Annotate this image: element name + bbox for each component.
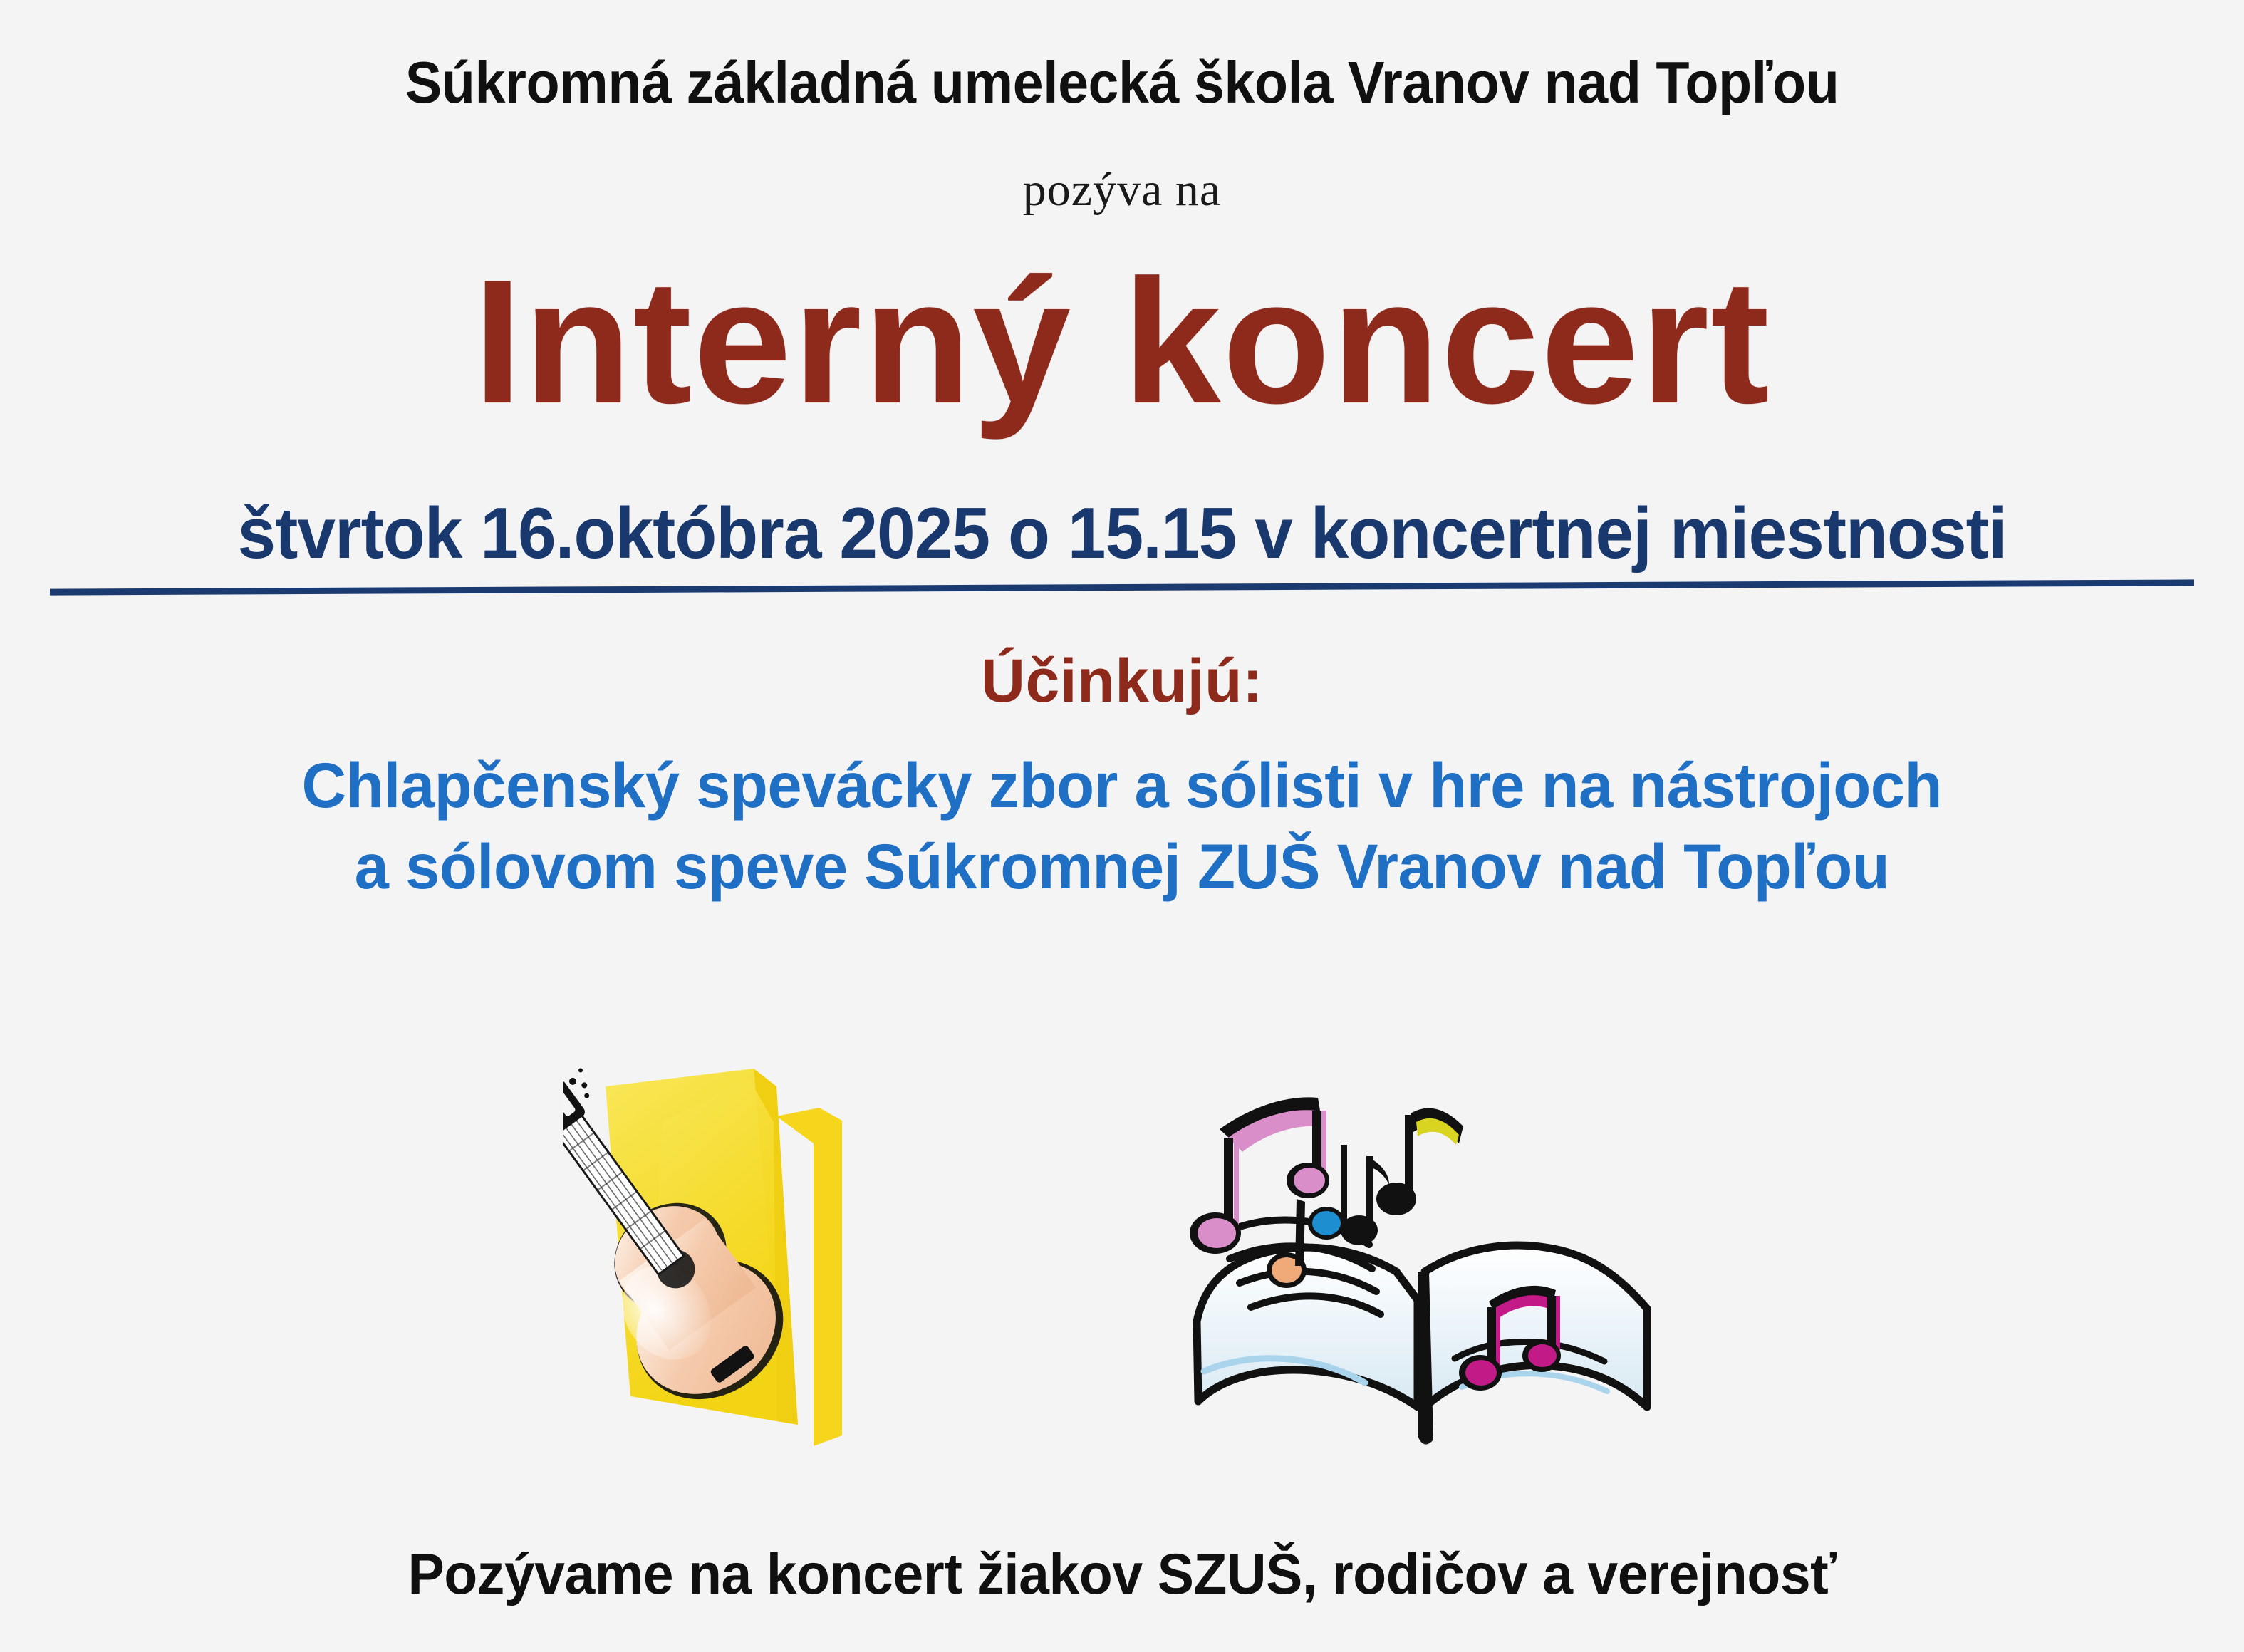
guitar-illustration	[563, 1037, 1019, 1464]
date-underline-rule	[50, 580, 2194, 596]
concert-poster: Súkromná základná umelecká škola Vranov …	[0, 0, 2244, 1652]
date-time-venue-text: štvrtok 16.októbra 2025 o 15.15 v koncer…	[237, 493, 2006, 575]
music-book-illustration	[1183, 1037, 1681, 1464]
invitation-subtitle: pozýva na	[1023, 163, 1221, 217]
guitar-clipart	[563, 1037, 1019, 1464]
performers-heading: Účinkujú:	[981, 646, 1263, 717]
school-name-heading: Súkromná základná umelecká škola Vranov …	[405, 51, 1839, 113]
footer-invitation-text: Pozývame na koncert žiakov SZUŠ, rodičov…	[56, 1542, 2188, 1608]
yellow-flag-note	[1376, 1108, 1463, 1215]
music-book-clipart	[1183, 1037, 1681, 1464]
clipart-row	[0, 1037, 2244, 1478]
page-title: Interný koncert	[473, 251, 1771, 432]
performers-line-2: a sólovom speve Súkromnej ZUŠ Vranov nad…	[355, 826, 1890, 908]
pink-beamed-note	[1190, 1097, 1329, 1254]
performers-line-1: Chlapčenský spevácky zbor a sólisti v hr…	[302, 745, 1943, 826]
date-time-venue-block: štvrtok 16.októbra 2025 o 15.15 v koncer…	[43, 493, 2201, 575]
book-right-page	[1425, 1245, 1647, 1407]
